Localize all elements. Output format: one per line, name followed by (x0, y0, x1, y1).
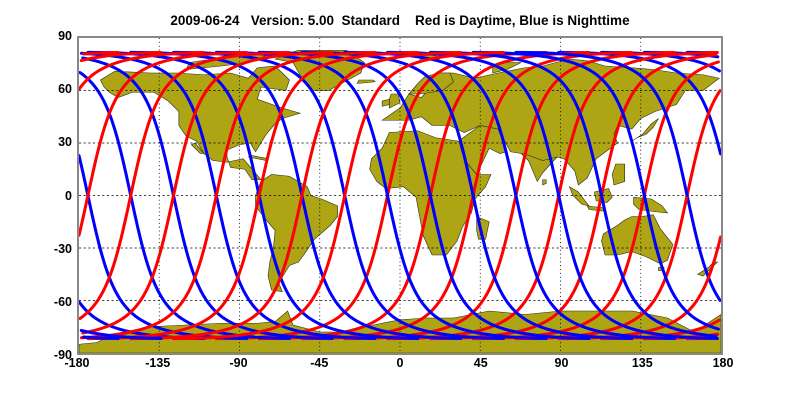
nighttime-track-segment (687, 194, 720, 301)
plot-clip (79, 38, 721, 353)
figure-title: 2009-06-24 Version: 5.00 Standard Red is… (0, 13, 800, 28)
x-tick-label: -45 (289, 357, 349, 370)
plot-area (77, 36, 723, 355)
landmass (543, 180, 547, 185)
x-tick-label: -135 (128, 357, 188, 370)
y-tick-label: 0 (32, 190, 72, 203)
y-axis-tick-labels: 9060300-30-60-90 (24, 36, 72, 355)
x-tick-label: -90 (209, 357, 269, 370)
x-tick-label: 0 (370, 357, 430, 370)
y-tick-label: 90 (32, 30, 72, 43)
landmass (569, 187, 589, 206)
y-tick-label: -60 (32, 296, 72, 309)
landmass (634, 197, 668, 213)
y-tick-label: 30 (32, 136, 72, 149)
nighttime-track-segment (79, 156, 88, 196)
landmass (612, 164, 624, 185)
x-tick-label: 90 (532, 357, 592, 370)
landmass (389, 94, 400, 108)
y-tick-label: -30 (32, 243, 72, 256)
x-tick-label: 135 (612, 357, 672, 370)
x-tick-label: -180 (47, 357, 107, 370)
landmass (100, 66, 300, 180)
x-axis-tick-labels: -180-135-90-4504590135180 (77, 357, 723, 377)
landmass (357, 80, 375, 84)
landmass (382, 99, 389, 106)
world-map-with-ground-tracks (79, 38, 721, 353)
y-tick-label: 60 (32, 83, 72, 96)
x-tick-label: 45 (451, 357, 511, 370)
x-tick-label: 180 (693, 357, 753, 370)
ground-track-map-figure: 2009-06-24 Version: 5.00 Standard Red is… (0, 0, 800, 400)
